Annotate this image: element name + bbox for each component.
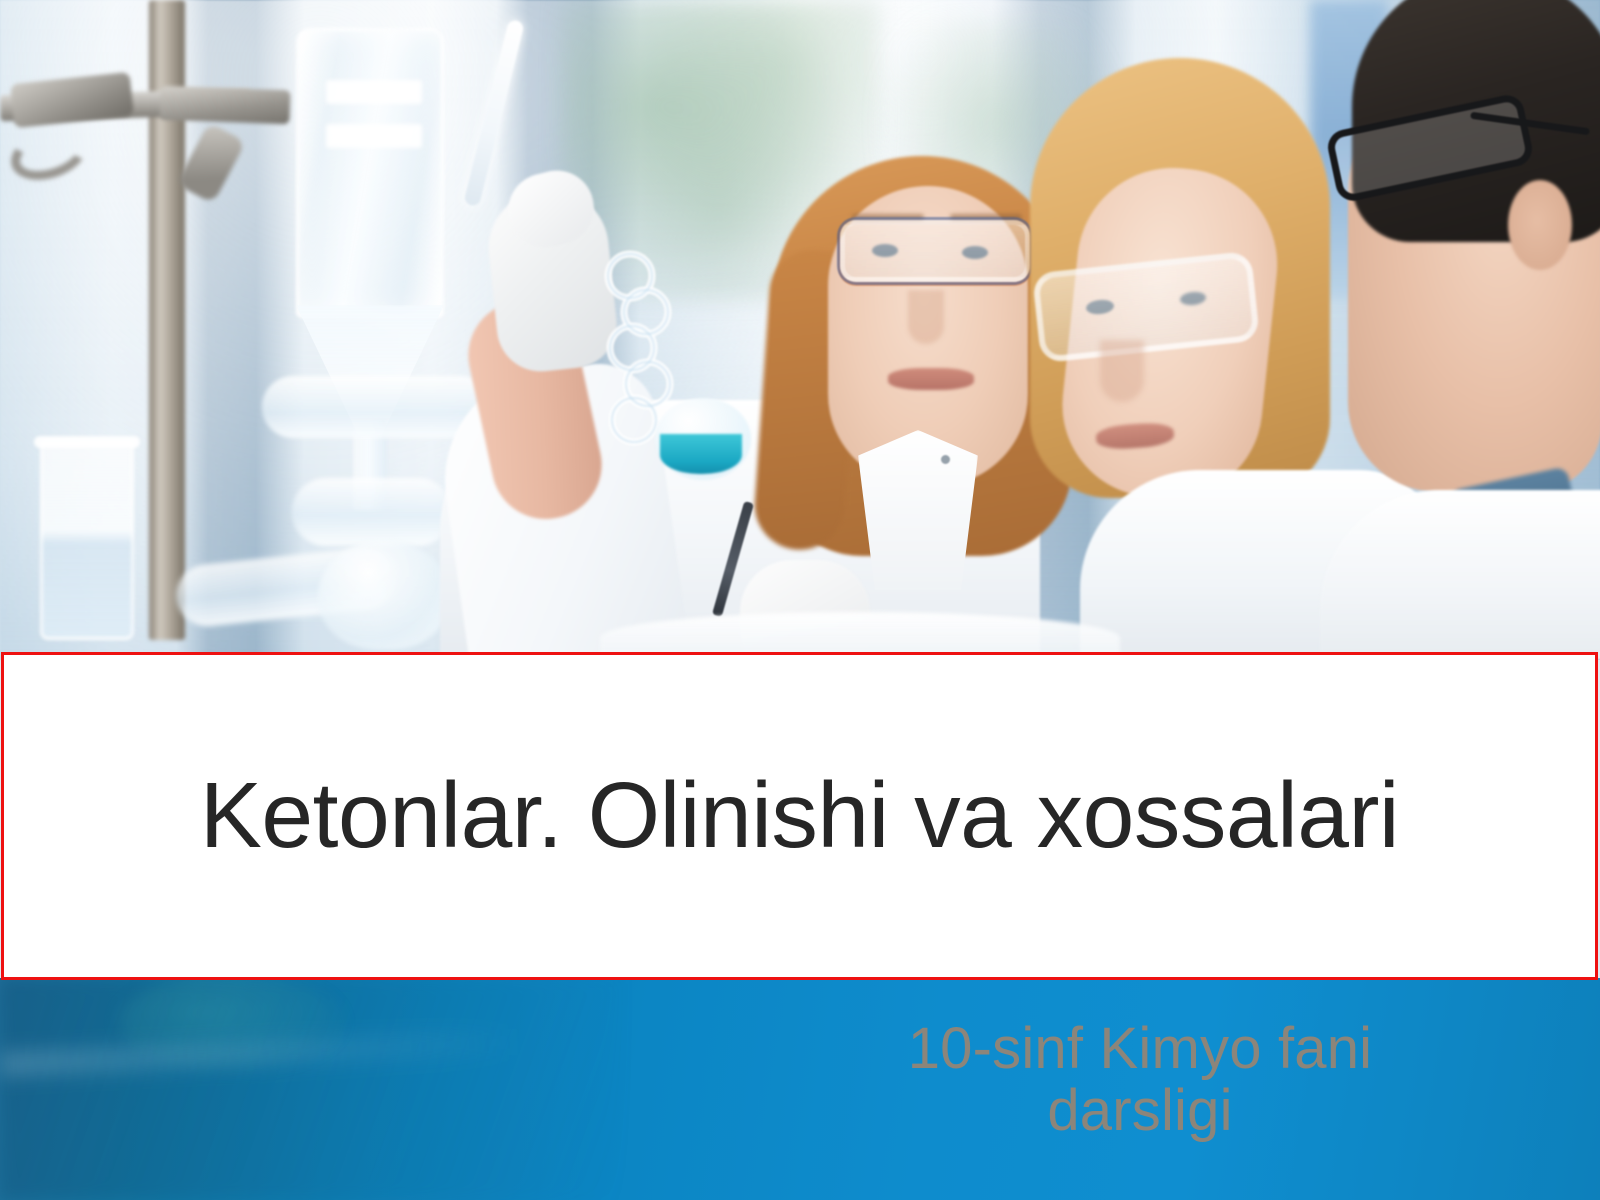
glass-joint-middle [292,478,452,546]
flask-icon [318,540,450,650]
band-shade-overlay [0,978,620,1200]
title-box: Ketonlar. Olinishi va xossalari [1,652,1598,980]
slide-subtitle: 10-sinf Kimyo fani darsligi [700,1018,1580,1142]
beaker-icon [40,440,134,640]
ear-scientist-c [1508,180,1572,270]
beaker-lip [34,436,140,448]
presentation-slide: 10-sinf Kimyo fani darsligi Ketonlar. Ol… [0,0,1600,1200]
flask-liquid [660,434,742,474]
lab-clamp-secondary-icon [159,86,290,125]
nose-scientist-b [1100,340,1144,402]
funnel-icon [296,28,444,318]
page-title: Ketonlar. Olinishi va xossalari [200,767,1399,865]
nose-scientist-a [908,290,944,344]
coat-button-icon [941,455,950,464]
mouth-scientist-a [888,368,974,390]
funnel-inner-plate [326,80,422,104]
funnel-inner-plate-2 [326,124,422,148]
safety-goggles-icon [840,220,1030,282]
collar-scientist-a [858,430,978,590]
